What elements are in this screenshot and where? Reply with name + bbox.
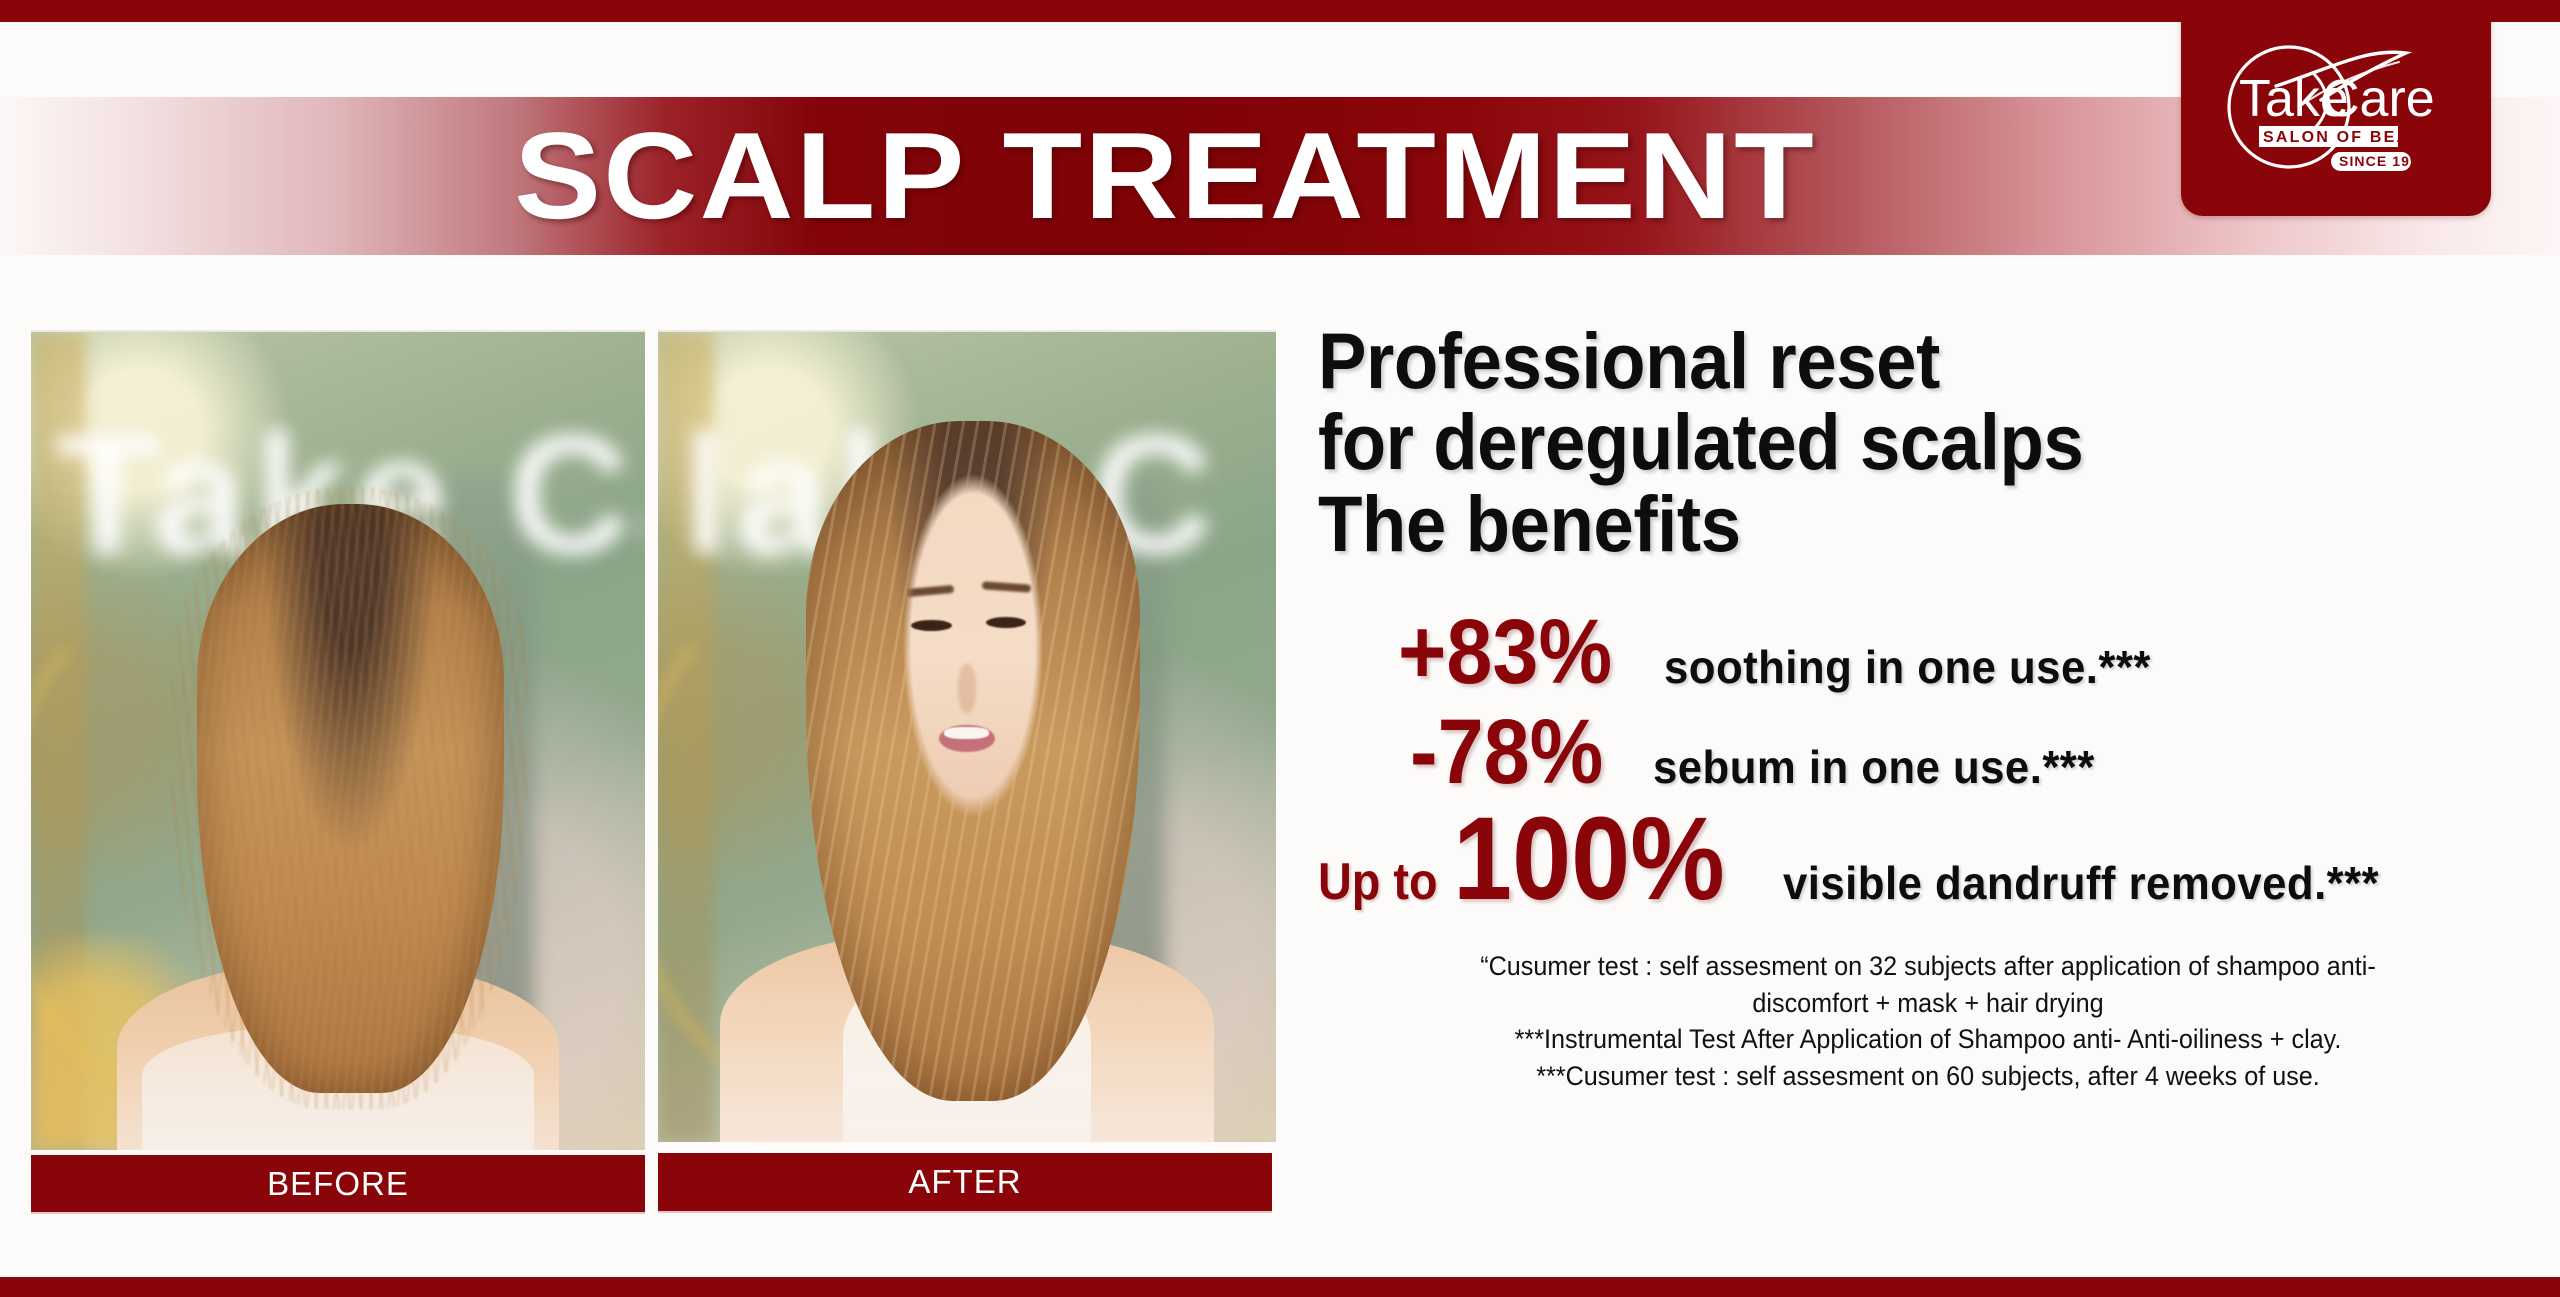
stat-row: +83% soothing in one use.***	[1318, 606, 2538, 698]
footnotes-block: “Cusumer test : self assesment on 32 sub…	[1349, 948, 2508, 1094]
stat-value: 100%	[1453, 800, 1725, 918]
stat-label: visible dandruff removed.***	[1783, 860, 2379, 906]
top-accent-bar	[0, 0, 2560, 22]
svg-text:SALON OF BEAUTY: SALON OF BEAUTY	[2263, 129, 2449, 146]
stat-value: -78%	[1410, 706, 1603, 798]
footnote-line: ***Cusumer test : self assesment on 60 s…	[1349, 1058, 2508, 1095]
headline-line-1: Professional reset	[1318, 320, 2440, 401]
headline-block: Professional reset for deregulated scalp…	[1318, 320, 2538, 564]
caption-after: AFTER	[658, 1153, 1272, 1213]
stat-prefix: Up to	[1318, 856, 1438, 908]
footnote-line: discomfort + mask + hair drying	[1349, 985, 2508, 1022]
take-care-logo-icon: Take Care SALON OF BEAUTY SINCE 1994	[2181, 0, 2491, 216]
caption-before: BEFORE	[31, 1155, 645, 1214]
hair-gloss-overlay	[806, 421, 1140, 1101]
benefit-stats: +83% soothing in one use.*** -78% sebum …	[1318, 606, 2538, 918]
headline-line-3: The benefits	[1318, 483, 2440, 564]
bottom-accent-bar	[0, 1277, 2560, 1297]
stat-label: soothing in one use.***	[1664, 644, 2151, 690]
headline-line-2: for deregulated scalps	[1318, 401, 2440, 482]
footnote-line: ***Instrumental Test After Application o…	[1349, 1021, 2508, 1058]
page-title: SCALP TREATMENT	[0, 97, 2400, 255]
copy-column: Professional reset for deregulated scalp…	[1318, 320, 2538, 1094]
hair-frizz-overlay	[172, 487, 528, 1109]
photo-after: lake C	[658, 330, 1276, 1142]
stat-row: -78% sebum in one use.***	[1318, 706, 2538, 798]
footnote-line: “Cusumer test : self assesment on 32 sub…	[1349, 948, 2508, 985]
stat-value: +83%	[1398, 606, 1612, 698]
before-after-gallery: Take Ca lake C	[31, 330, 1276, 1215]
svg-text:Care: Care	[2322, 70, 2435, 128]
stat-label: sebum in one use.***	[1653, 744, 2095, 790]
svg-text:SINCE 1994: SINCE 1994	[2339, 153, 2428, 169]
photo-before: Take Ca	[31, 330, 645, 1150]
stat-row: Up to 100% visible dandruff removed.***	[1318, 800, 2538, 918]
brand-logo-plate: Take Care SALON OF BEAUTY SINCE 1994	[2181, 0, 2491, 216]
